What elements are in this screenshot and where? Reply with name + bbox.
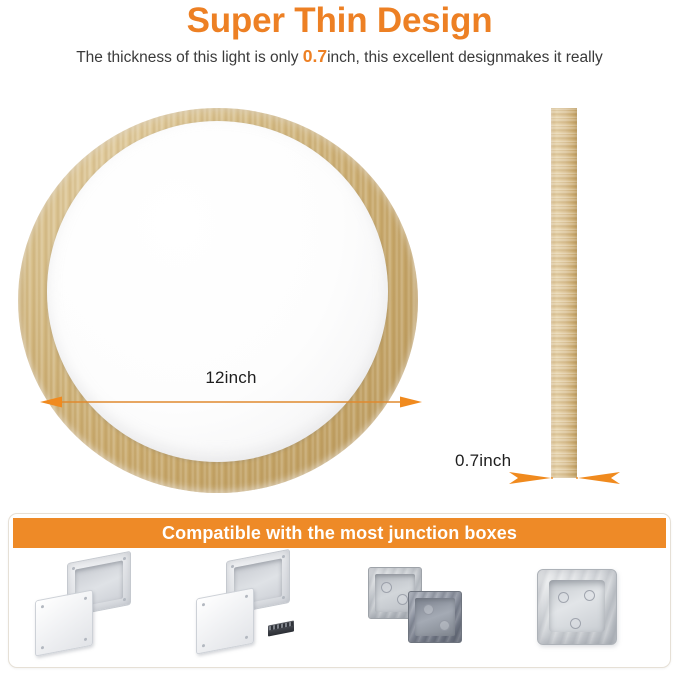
- screw-hole: [41, 605, 44, 609]
- knockout-hole: [558, 592, 569, 603]
- compatibility-card: Compatible with the most junction boxes: [8, 513, 671, 668]
- screw-hole: [84, 597, 87, 601]
- screw-hole: [41, 646, 44, 650]
- diameter-arrow-svg: [40, 394, 422, 412]
- screw-hole: [282, 596, 285, 600]
- screw-hole: [84, 638, 87, 642]
- screw-hole: [123, 557, 126, 561]
- screw-hole: [202, 644, 205, 648]
- screw-hole: [245, 636, 248, 640]
- page-subtitle: The thickness of this light is only 0.7i…: [0, 41, 679, 69]
- junction-box-gallery: [9, 548, 670, 666]
- screw-hole: [202, 603, 205, 607]
- screw-hole: [245, 595, 248, 599]
- terminal-block: [268, 620, 294, 636]
- screw-hole: [123, 598, 126, 602]
- metal-box-large: [537, 569, 617, 645]
- junction-box-item-1: [9, 551, 174, 663]
- plastic-box-lid: [196, 587, 254, 654]
- screw-hole: [282, 555, 285, 559]
- two-galvanized-metal-square-boxes-icon: [340, 551, 505, 663]
- white-plastic-junction-box-with-terminal-block-icon: [174, 551, 339, 663]
- knockout-hole: [584, 590, 595, 601]
- knockout-hole: [423, 604, 434, 615]
- page-title: Super Thin Design: [0, 0, 679, 41]
- metal-box-cavity: [415, 598, 455, 636]
- subtitle-text-after: inch, this excellent designmakes it real…: [327, 49, 603, 66]
- white-plastic-junction-box-with-lid-icon: [9, 551, 174, 663]
- knockout-hole: [397, 594, 408, 605]
- thickness-arrow-svg: [508, 470, 621, 486]
- ceiling-light-side-profile: [551, 108, 577, 478]
- compatibility-banner: Compatible with the most junction boxes: [13, 518, 666, 548]
- knockout-hole: [381, 582, 392, 593]
- junction-box-item-3: [340, 551, 505, 663]
- infographic-header: Super Thin Design The thickness of this …: [0, 0, 679, 69]
- large-galvanized-metal-square-box-icon: [505, 551, 670, 663]
- knockout-hole: [439, 620, 450, 631]
- knockout-hole: [570, 618, 581, 629]
- thickness-dimension-arrows: [508, 470, 621, 486]
- plastic-box-lid: [35, 589, 93, 656]
- junction-box-item-4: [505, 551, 670, 663]
- metal-box-dark: [408, 591, 462, 643]
- subtitle-text-before: The thickness of this light is only: [76, 49, 303, 66]
- subtitle-thickness-value: 0.7: [303, 46, 327, 66]
- junction-box-item-2: [174, 551, 339, 663]
- thickness-label: 0.7inch: [455, 451, 511, 471]
- diameter-label: 12inch: [40, 368, 422, 388]
- ceiling-light-top-view: 12inch: [18, 108, 418, 493]
- compatibility-banner-label: Compatible with the most junction boxes: [162, 523, 517, 544]
- diameter-dimension-line: 12inch: [40, 394, 422, 412]
